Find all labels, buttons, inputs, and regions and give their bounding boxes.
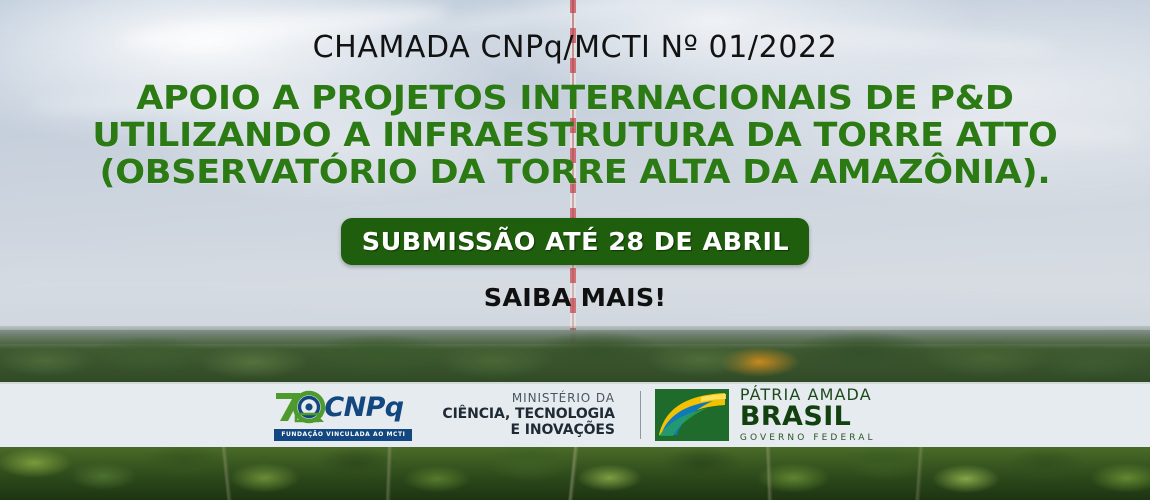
cnpq-wordmark: CNPq (324, 394, 403, 421)
promotional-banner: CHAMADA CNPq/MCTI Nº 01/2022 APOIO A PRO… (0, 0, 1150, 500)
ministry-logo[interactable]: MINISTÉRIO DA CIÊNCIA, TECNOLOGIA E INOV… (442, 391, 627, 438)
brasil-wordmark: PÁTRIA AMADA BRASIL GOVERNO FEDERAL (740, 387, 876, 442)
brasil-line-2: BRASIL (740, 403, 876, 431)
ministry-line-1: MINISTÉRIO DA (442, 391, 615, 405)
institutional-logo-bar: CNPq FUNDAÇÃO VINCULADA AO MCTI MINISTÉR… (0, 382, 1150, 448)
tree-trunks-overlay (0, 447, 1150, 500)
brasil-flag-icon (655, 389, 729, 441)
logo-divider (640, 391, 641, 439)
distant-forest-canopy (0, 326, 1150, 384)
headline-line-3: (OBSERVATÓRIO DA TORRE ALTA DA AMAZÔNIA)… (0, 155, 1150, 188)
ministry-line-2: CIÊNCIA, TECNOLOGIA (442, 406, 615, 423)
cnpq-70-anniversary-icon (274, 390, 328, 424)
headline-line-2: UTILIZANDO A INFRAESTRUTURA DA TORRE ATT… (0, 118, 1150, 151)
cnpq-logo-mark: CNPq (274, 389, 412, 425)
brasil-government-logo[interactable]: PÁTRIA AMADA BRASIL GOVERNO FEDERAL (655, 387, 876, 442)
submission-deadline-button[interactable]: SUBMISSÃO ATÉ 28 DE ABRIL (341, 218, 809, 265)
learn-more-link[interactable]: SAIBA MAIS! (0, 285, 1150, 310)
headline-line-1: APOIO A PROJETOS INTERNACIONAIS DE P&D (0, 81, 1150, 114)
cnpq-logo[interactable]: CNPq FUNDAÇÃO VINCULADA AO MCTI (274, 389, 412, 441)
ministry-line-3: E INOVAÇÕES (442, 422, 615, 439)
cnpq-tagline: FUNDAÇÃO VINCULADA AO MCTI (281, 432, 405, 438)
brasil-line-3: GOVERNO FEDERAL (740, 434, 876, 443)
call-reference-kicker: CHAMADA CNPq/MCTI Nº 01/2022 (0, 33, 1150, 63)
cnpq-tagline-bar: FUNDAÇÃO VINCULADA AO MCTI (274, 429, 412, 441)
submission-deadline-label: SUBMISSÃO ATÉ 28 DE ABRIL (361, 229, 788, 254)
